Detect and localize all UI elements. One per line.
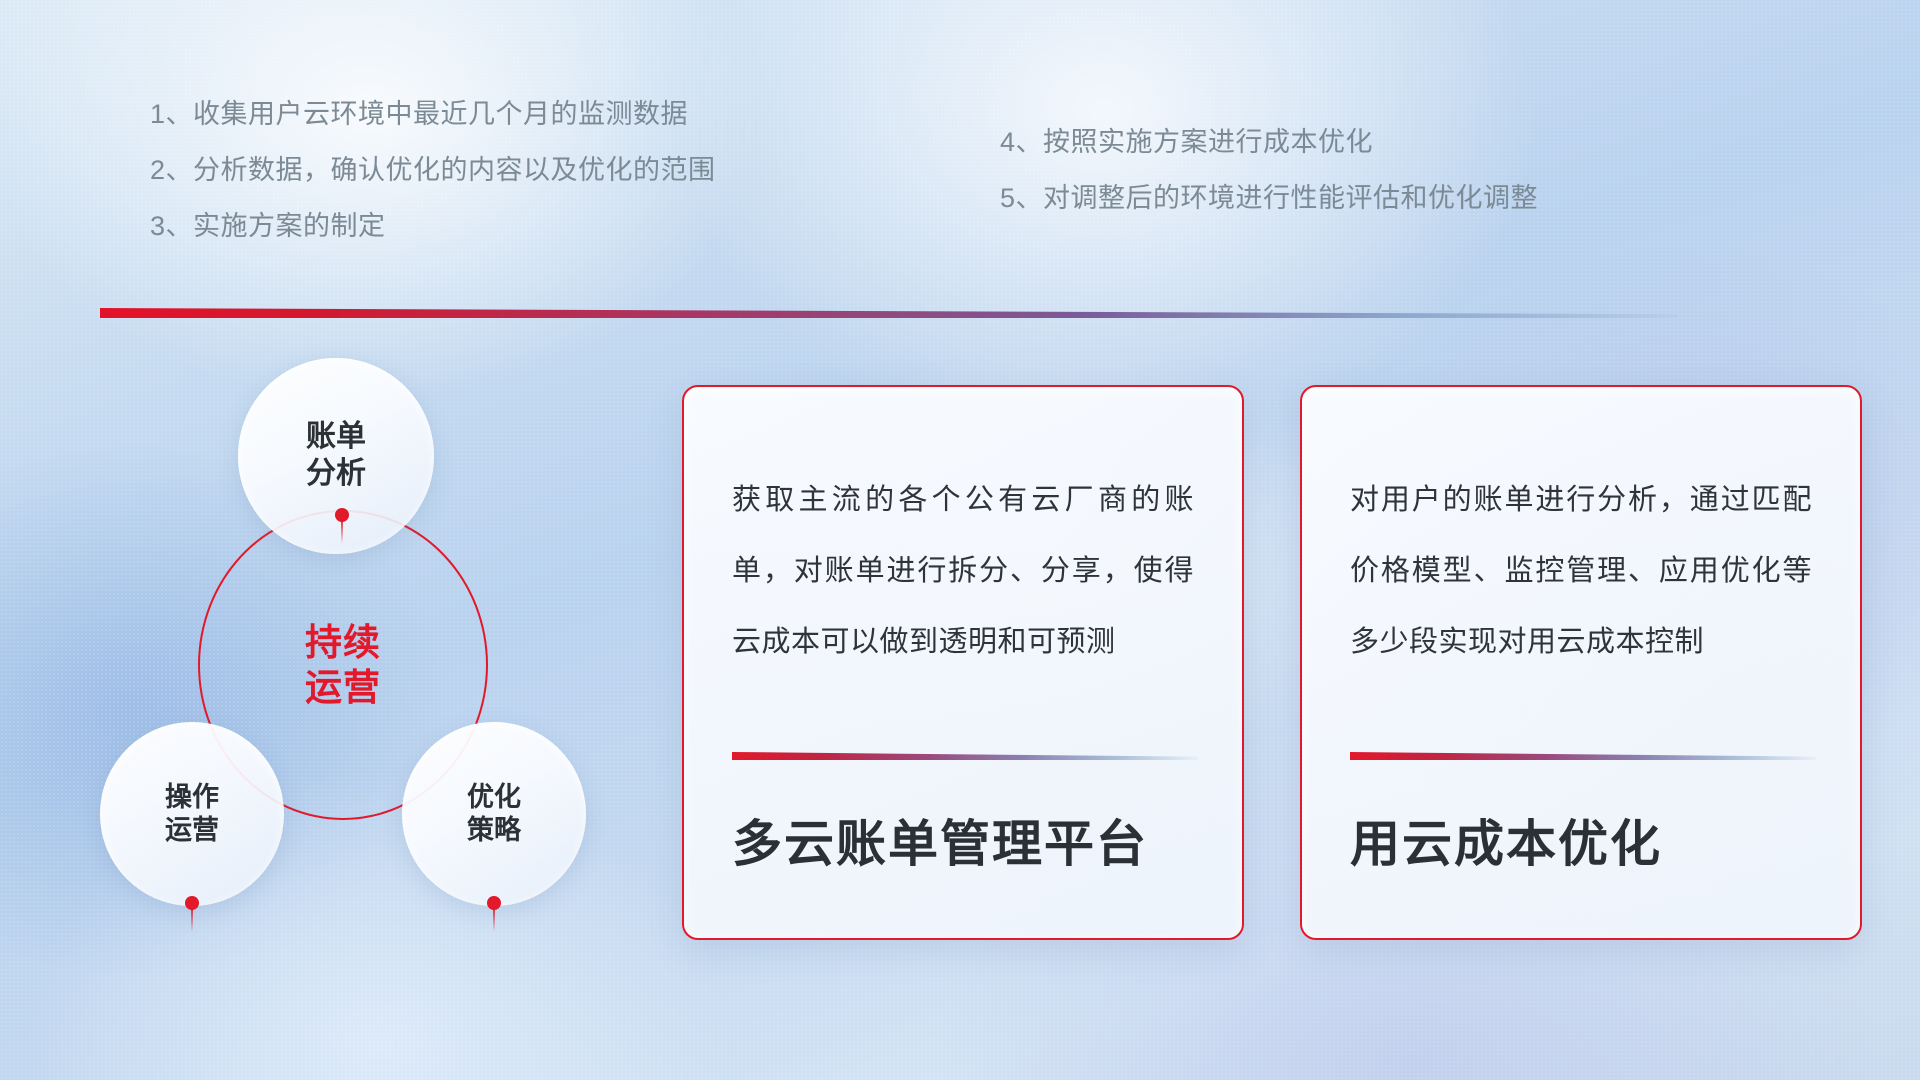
card-cloud-cost-optimization[interactable]: 对用户的账单进行分析，通过匹配价格模型、监控管理、应用优化等多少段实现对用云成本… bbox=[1300, 385, 1862, 940]
node-label-line2: 策略 bbox=[467, 814, 521, 847]
continuous-operation-diagram: 持续 运营 账单 分析 操作 运营 优化 策略 bbox=[90, 350, 610, 950]
steps-list: 1、收集用户云环境中最近几个月的监测数据 2、分析数据，确认优化的内容以及优化的… bbox=[0, 92, 1920, 252]
node-label-line2: 分析 bbox=[306, 456, 366, 493]
card-divider bbox=[732, 752, 1198, 760]
card-body-text: 获取主流的各个公有云厂商的账单，对账单进行拆分、分享，使得云成本可以做到透明和可… bbox=[732, 465, 1194, 678]
step-item-2: 2、分析数据，确认优化的内容以及优化的范围 bbox=[150, 148, 716, 187]
center-label-line1: 持续 bbox=[305, 620, 381, 665]
node-label-line1: 操作 bbox=[165, 781, 219, 814]
diagram-node-operation[interactable]: 操作 运营 bbox=[100, 722, 284, 906]
diagram-node-optimization[interactable]: 优化 策略 bbox=[402, 722, 586, 906]
step-item-5: 5、对调整后的环境进行性能评估和优化调整 bbox=[1000, 176, 1538, 215]
card-body-text: 对用户的账单进行分析，通过匹配价格模型、监控管理、应用优化等多少段实现对用云成本… bbox=[1350, 465, 1812, 678]
card-title: 多云账单管理平台 bbox=[732, 804, 1148, 876]
feature-cards: 获取主流的各个公有云厂商的账单，对账单进行拆分、分享，使得云成本可以做到透明和可… bbox=[682, 385, 1862, 940]
card-multi-cloud-billing-platform[interactable]: 获取主流的各个公有云厂商的账单，对账单进行拆分、分享，使得云成本可以做到透明和可… bbox=[682, 385, 1244, 940]
diagram-node-bill-analysis[interactable]: 账单 分析 bbox=[238, 358, 434, 554]
connector-dot-top bbox=[335, 508, 349, 522]
connector-dot-bottom-right bbox=[487, 896, 501, 910]
step-item-1: 1、收集用户云环境中最近几个月的监测数据 bbox=[150, 92, 688, 131]
center-label-line2: 运营 bbox=[305, 665, 381, 710]
node-label-line1: 账单 bbox=[306, 419, 366, 456]
step-item-3: 3、实施方案的制定 bbox=[150, 204, 386, 243]
node-label-line1: 优化 bbox=[467, 781, 521, 814]
connector-dot-bottom-left bbox=[185, 896, 199, 910]
node-label-line2: 运营 bbox=[165, 814, 219, 847]
card-divider bbox=[1350, 752, 1816, 760]
card-title: 用云成本优化 bbox=[1350, 804, 1662, 876]
step-item-4: 4、按照实施方案进行成本优化 bbox=[1000, 120, 1373, 159]
